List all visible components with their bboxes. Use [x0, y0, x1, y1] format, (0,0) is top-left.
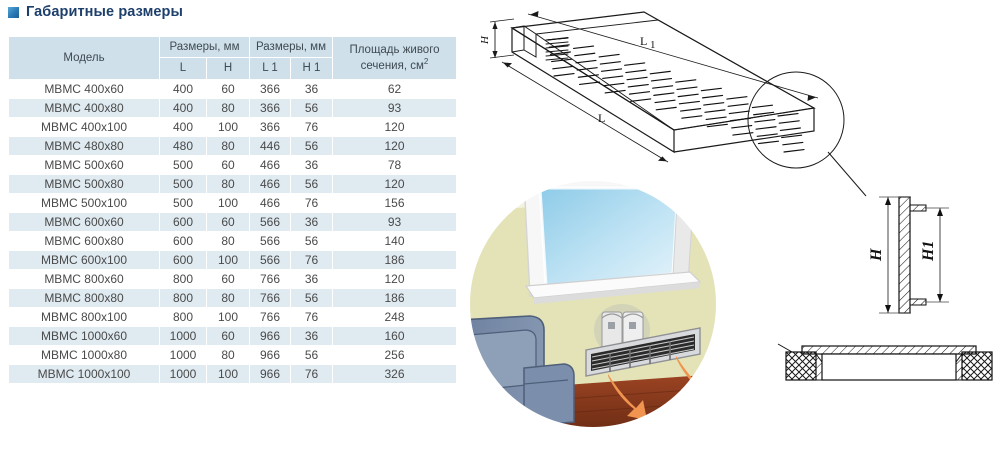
section-leader-line [778, 344, 792, 352]
louvre-slot [756, 127, 776, 129]
header-group-inner: Размеры, мм [250, 37, 332, 57]
l1-cell: 466 [250, 175, 290, 193]
area-cell: 326 [333, 365, 456, 383]
h-cell: 80 [207, 289, 249, 307]
air-opening [822, 354, 956, 380]
louvre-slot [758, 141, 778, 143]
l1-cell: 466 [250, 156, 290, 174]
sofa-armrest [524, 364, 574, 426]
table-row: МВМС 800x10080010076676248 [9, 308, 456, 326]
h-cell: 80 [207, 346, 249, 364]
area-cell: 120 [333, 175, 456, 193]
louvre-slot [728, 104, 748, 106]
area-cell: 93 [333, 213, 456, 231]
l1-cell: 566 [250, 232, 290, 250]
dimension-h-section [885, 197, 891, 313]
l1-cell: 966 [250, 346, 290, 364]
frame-right [956, 354, 962, 380]
table-row: МВМС 600x10060010056676186 [9, 251, 456, 269]
louvre-slot [656, 107, 676, 109]
l-cell: 1000 [160, 365, 206, 383]
area-cell: 120 [333, 270, 456, 288]
l1-cell: 566 [250, 251, 290, 269]
table-row: МВМС 800x808008076656186 [9, 289, 456, 307]
h1-cell: 36 [291, 156, 332, 174]
h1-cell: 36 [291, 270, 332, 288]
l-cell: 800 [160, 270, 206, 288]
model-cell: МВМС 400x80 [9, 99, 159, 117]
l1-cell: 366 [250, 99, 290, 117]
l-cell: 1000 [160, 327, 206, 345]
h-cell: 60 [207, 80, 249, 98]
area-cell: 186 [333, 289, 456, 307]
l-cell: 1000 [160, 346, 206, 364]
area-cell: 248 [333, 308, 456, 326]
louvre-slot [602, 69, 622, 71]
header-h: H [207, 58, 249, 78]
l1-cell: 446 [250, 137, 290, 155]
model-cell: МВМС 600x100 [9, 251, 159, 269]
louvre-slot [727, 97, 747, 99]
section-title: Габаритные размеры [8, 4, 183, 20]
model-cell: МВМС 500x100 [9, 194, 159, 212]
louvre-slot [553, 66, 573, 68]
h1-cell: 76 [291, 308, 332, 326]
bottom-flange [910, 299, 926, 305]
top-flange [910, 205, 926, 211]
h1-cell: 56 [291, 232, 332, 250]
louvre-slot [783, 142, 803, 144]
h-cell: 100 [207, 308, 249, 326]
h1-cell: 36 [291, 327, 332, 345]
isometric-grille-drawing: H L 1 L [462, 0, 882, 180]
model-cell: МВМС 1000x60 [9, 327, 159, 345]
dimensions-table-wrapper: Модель Размеры, мм Размеры, мм Площадь ж… [8, 36, 452, 384]
header-group-outer: Размеры, мм [160, 37, 249, 57]
h1-cell: 56 [291, 137, 332, 155]
model-cell: МВМС 1000x100 [9, 365, 159, 383]
h-cell: 60 [207, 156, 249, 174]
l1-cell: 966 [250, 327, 290, 345]
louvre-slot [703, 95, 723, 97]
louvre-slot [548, 38, 568, 40]
dimension-l1 [528, 11, 818, 101]
page-title: Габаритные размеры [26, 4, 183, 20]
model-cell: МВМС 800x60 [9, 270, 159, 288]
table-row: МВМС 800x608006076636120 [9, 270, 456, 288]
table-row: МВМС 600x60600605663693 [9, 213, 456, 231]
h1-cell: 36 [291, 213, 332, 231]
l1-cell: 766 [250, 270, 290, 288]
h-cell: 60 [207, 270, 249, 288]
grille-body-outline [512, 12, 814, 152]
louvre-slot [603, 76, 623, 78]
louvre-slot [627, 77, 647, 79]
model-cell: МВМС 800x100 [9, 308, 159, 326]
blue-square-bullet-icon [8, 7, 19, 18]
h-cell: 100 [207, 365, 249, 383]
dimension-label-h-section: H [868, 248, 885, 262]
h-cell: 80 [207, 175, 249, 193]
louvre-slot [681, 109, 701, 111]
dimension-label-h: H [479, 35, 491, 45]
louvre-slot [729, 111, 749, 113]
header-free-area: Площадь живого сечения, см2 [333, 37, 456, 79]
louvre-slot [784, 150, 804, 152]
area-cell: 160 [333, 327, 456, 345]
header-l: L [160, 58, 206, 78]
l-cell: 480 [160, 137, 206, 155]
area-cell: 186 [333, 251, 456, 269]
area-cell: 120 [333, 118, 456, 136]
louvre-slot [682, 116, 702, 118]
h-cell: 60 [207, 327, 249, 345]
table-row: МВМС 1000x6010006096636160 [9, 327, 456, 345]
dimension-label-l1: L [640, 34, 647, 48]
louvre-slot [575, 53, 595, 55]
louvre-slot [554, 74, 574, 76]
dimension-h [490, 19, 514, 58]
table-row: МВМС 500x60500604663678 [9, 156, 456, 174]
louvre-slot [580, 82, 600, 84]
model-cell: МВМС 480x80 [9, 137, 159, 155]
model-cell: МВМС 600x80 [9, 232, 159, 250]
dimension-label-h1-section: H1 [920, 241, 937, 262]
model-cell: МВМС 500x80 [9, 175, 159, 193]
table-row: МВМС 400x10040010036676120 [9, 118, 456, 136]
area-cell: 62 [333, 80, 456, 98]
louvre-slot [654, 93, 674, 95]
h1-cell: 56 [291, 289, 332, 307]
h1-cell: 36 [291, 80, 332, 98]
louvre-slot [629, 92, 649, 94]
window-glass [540, 188, 678, 286]
louvre-slot [780, 128, 800, 130]
table-head: Модель Размеры, мм Размеры, мм Площадь ж… [9, 37, 456, 79]
louvre-slot [650, 71, 670, 73]
louvre-slot [653, 86, 673, 88]
louvre-slot [679, 101, 699, 103]
h-cell: 80 [207, 99, 249, 117]
l1-cell: 366 [250, 80, 290, 98]
table-row: МВМС 500x10050010046676156 [9, 194, 456, 212]
model-cell: МВМС 800x80 [9, 289, 159, 307]
l1-cell: 466 [250, 194, 290, 212]
louvre-slot [704, 103, 724, 105]
wall-block-right [962, 352, 992, 380]
l-cell: 800 [160, 289, 206, 307]
model-cell: МВМС 1000x80 [9, 346, 159, 364]
h-cell: 100 [207, 118, 249, 136]
l1-cell: 766 [250, 289, 290, 307]
table-row: МВМС 500x805008046656120 [9, 175, 456, 193]
h1-cell: 56 [291, 99, 332, 117]
l-cell: 500 [160, 156, 206, 174]
table-body: МВМС 400x60400603663662МВМС 400x80400803… [9, 80, 456, 383]
louvre-slot [576, 60, 596, 62]
louvre-slot [730, 118, 750, 120]
louvre-slot [574, 46, 594, 48]
louvre-slot [599, 54, 619, 56]
louvre-slot [705, 110, 725, 112]
table-header-row-1: Модель Размеры, мм Размеры, мм Площадь ж… [9, 37, 456, 57]
wall-block-left [786, 352, 816, 380]
louvre-slot [755, 120, 775, 122]
louvre-slot [779, 121, 799, 123]
l1-cell: 566 [250, 213, 290, 231]
header-free-area-superscript: 2 [424, 57, 428, 66]
louvre-slot [701, 88, 721, 90]
area-cell: 93 [333, 99, 456, 117]
l-cell: 800 [160, 308, 206, 326]
l1-cell: 766 [250, 308, 290, 326]
louvre-slot [628, 85, 648, 87]
model-cell: МВМС 600x60 [9, 213, 159, 231]
h1-cell: 76 [291, 251, 332, 269]
louvre-slot [626, 70, 646, 72]
area-cell: 78 [333, 156, 456, 174]
l-cell: 400 [160, 118, 206, 136]
spec-sheet-page: Габаритные размеры Модель Размеры, мм Ра… [0, 0, 1001, 464]
louvre-slot [752, 105, 772, 107]
louvre-slot [677, 87, 697, 89]
louvre-slot [631, 99, 651, 101]
h1-cell: 76 [291, 365, 332, 383]
louvre-slot [678, 94, 698, 96]
louvre-slot [778, 114, 798, 116]
h-cell: 60 [207, 213, 249, 231]
l1-cell: 366 [250, 118, 290, 136]
face-plate [899, 197, 910, 313]
area-cell: 140 [333, 232, 456, 250]
l-cell: 500 [160, 175, 206, 193]
table-row: МВМС 1000x100100010096676326 [9, 365, 456, 383]
table-row: МВМС 600x806008056656140 [9, 232, 456, 250]
area-cell: 120 [333, 137, 456, 155]
dimension-h1-section [937, 208, 943, 302]
louvre-slot [625, 63, 645, 65]
h-cell: 80 [207, 232, 249, 250]
louvre-slot [655, 100, 675, 102]
table-row: МВМС 400x80400803665693 [9, 99, 456, 117]
area-cell: 256 [333, 346, 456, 364]
louvre-slot [600, 62, 620, 64]
l-cell: 600 [160, 213, 206, 231]
h-cell: 100 [207, 251, 249, 269]
l1-cell: 966 [250, 365, 290, 383]
dimensions-table: Модель Размеры, мм Размеры, мм Площадь ж… [8, 36, 457, 384]
louvre-slot [578, 75, 598, 77]
louvre-slot [706, 117, 726, 119]
louvre-slot [651, 79, 671, 81]
dimension-label-l1-sub: 1 [650, 39, 656, 51]
louvre-slot [757, 134, 777, 136]
table-row: МВМС 1000x8010008096656256 [9, 346, 456, 364]
table-row: МВМС 480x804808044656120 [9, 137, 456, 155]
louvre-slot [676, 80, 696, 82]
table-row: МВМС 400x60400603663662 [9, 80, 456, 98]
h-cell: 100 [207, 194, 249, 212]
room-installation-illustration [468, 178, 718, 430]
header-model: Модель [9, 37, 159, 79]
l-cell: 600 [160, 232, 206, 250]
l-cell: 400 [160, 99, 206, 117]
model-cell: МВМС 500x60 [9, 156, 159, 174]
header-l1: L 1 [250, 58, 290, 78]
h1-cell: 56 [291, 346, 332, 364]
h1-cell: 76 [291, 118, 332, 136]
h1-cell: 56 [291, 175, 332, 193]
l-cell: 400 [160, 80, 206, 98]
l-cell: 600 [160, 251, 206, 269]
model-cell: МВМС 400x60 [9, 80, 159, 98]
l-cell: 500 [160, 194, 206, 212]
h-cell: 80 [207, 137, 249, 155]
louvre-slot-grid [548, 38, 804, 152]
section-face-plate [802, 346, 976, 354]
dimension-label-l: L [598, 111, 605, 125]
h1-cell: 76 [291, 194, 332, 212]
model-cell: МВМС 400x100 [9, 118, 159, 136]
vertical-cross-section: H H1 [845, 185, 995, 330]
area-cell: 156 [333, 194, 456, 212]
frame-left [816, 354, 822, 380]
horizontal-mounting-section [778, 330, 1000, 402]
header-h1: H 1 [291, 58, 332, 78]
